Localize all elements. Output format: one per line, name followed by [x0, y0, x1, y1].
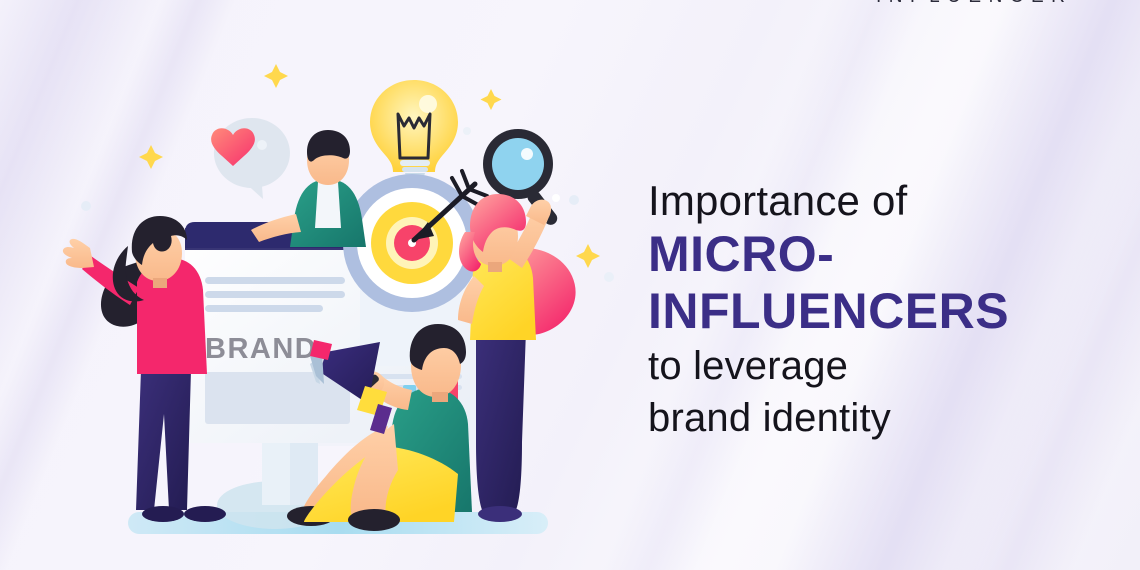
- lightbulb-icon: [370, 80, 458, 183]
- brand-board-label: BRAND: [205, 333, 317, 365]
- headline-line-4: to leverage: [648, 340, 1078, 392]
- headline-block: Importance of MICRO- INFLUENCERS to leve…: [648, 176, 1078, 444]
- headline-line-5: brand identity: [648, 392, 1078, 444]
- headline-line-3: INFLUENCERS: [648, 283, 1078, 340]
- banner-root: INFLUENCER: [0, 0, 1140, 570]
- brand-logo-wordmark: INFLUENCER: [876, 0, 1072, 8]
- hero-illustration: BRAND: [0, 0, 640, 570]
- headline-line-1: Importance of: [648, 176, 1078, 226]
- heart-speech-bubble-icon: [211, 118, 290, 199]
- headline-line-2: MICRO-: [648, 226, 1078, 283]
